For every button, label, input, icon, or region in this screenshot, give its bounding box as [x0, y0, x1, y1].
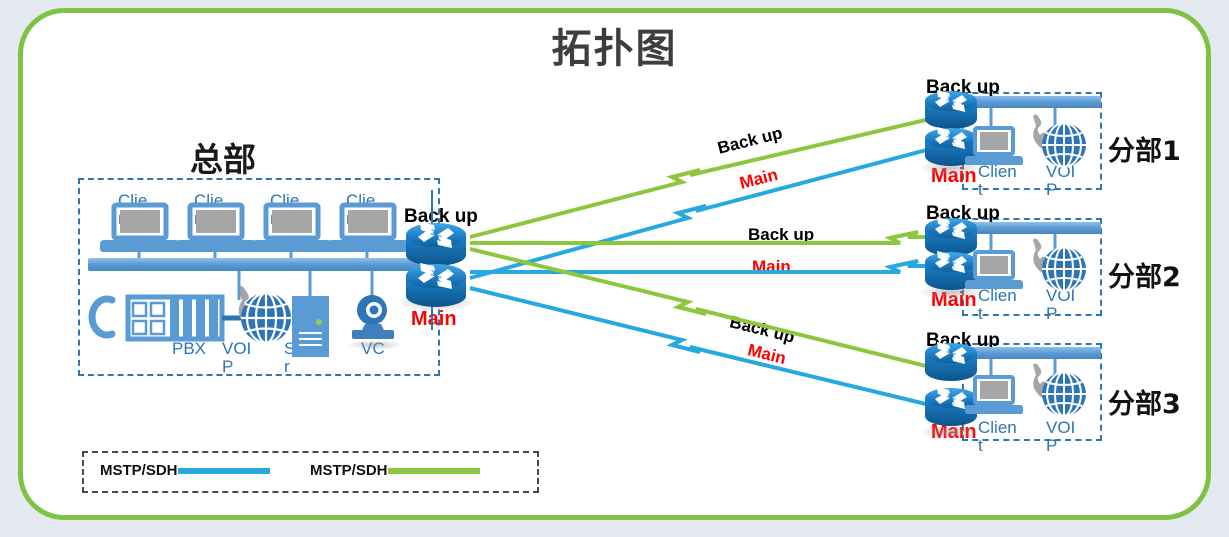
hq-client-label-2: Client [194, 192, 228, 228]
hq-device-label-pbx: PBX [172, 340, 206, 358]
link-label-branch2-main: Main [752, 257, 791, 277]
branch2-device-label-voip: VOIP [1046, 287, 1076, 323]
legend-label-backup: MSTP/SDH [310, 462, 388, 479]
hq-title: 总部 [190, 133, 256, 181]
link-label-branch2-backup: Back up [748, 225, 814, 245]
branch2-title: 分部2 [1108, 255, 1181, 294]
legend-swatch-main [178, 468, 270, 474]
hq-router-tag-main: Main [411, 308, 457, 331]
hq-device-label-voip: VOIP [222, 340, 252, 376]
legend-box: MSTP/SDH MSTP/SDH [82, 451, 539, 493]
legend-item-mstp-sdh-backup: MSTP/SDH [310, 462, 480, 479]
branch1-router-tag-main: Main [931, 165, 977, 188]
branch3-router-tag-main: Main [931, 421, 977, 444]
branch3-device-label-client: Client [978, 419, 1018, 455]
legend-item-mstp-sdh-main: MSTP/SDH [100, 462, 270, 479]
branch3-device-label-voip: VOIP [1046, 419, 1076, 455]
branch2-device-label-client: Client [978, 287, 1018, 323]
branch1-title: 分部1 [1108, 129, 1181, 168]
branch1-device-label-voip: VOIP [1046, 163, 1076, 199]
branch2-router-tag-backup: Back up [926, 203, 1000, 225]
legend-swatch-backup [388, 468, 480, 474]
branch2-router-tag-main: Main [931, 289, 977, 312]
branch3-title: 分部3 [1108, 382, 1181, 421]
hq-device-label-server: Server [284, 340, 332, 376]
branch1-device-label-client: Client [978, 163, 1018, 199]
branch1-router-tag-backup: Back up [926, 77, 1000, 99]
hq-router-tag-backup: Back up [404, 206, 478, 228]
page-title: 拓扑图 [0, 16, 1229, 74]
hq-client-label-1: Client [118, 192, 152, 228]
hq-client-label-3: Client [270, 192, 304, 228]
legend-label-main: MSTP/SDH [100, 462, 178, 479]
topology-canvas: 拓扑图 [0, 0, 1229, 537]
hq-client-label-4: Client [346, 192, 380, 228]
hq-device-label-vc: VC [361, 340, 385, 358]
branch3-router-tag-backup: Back up [926, 330, 1000, 352]
